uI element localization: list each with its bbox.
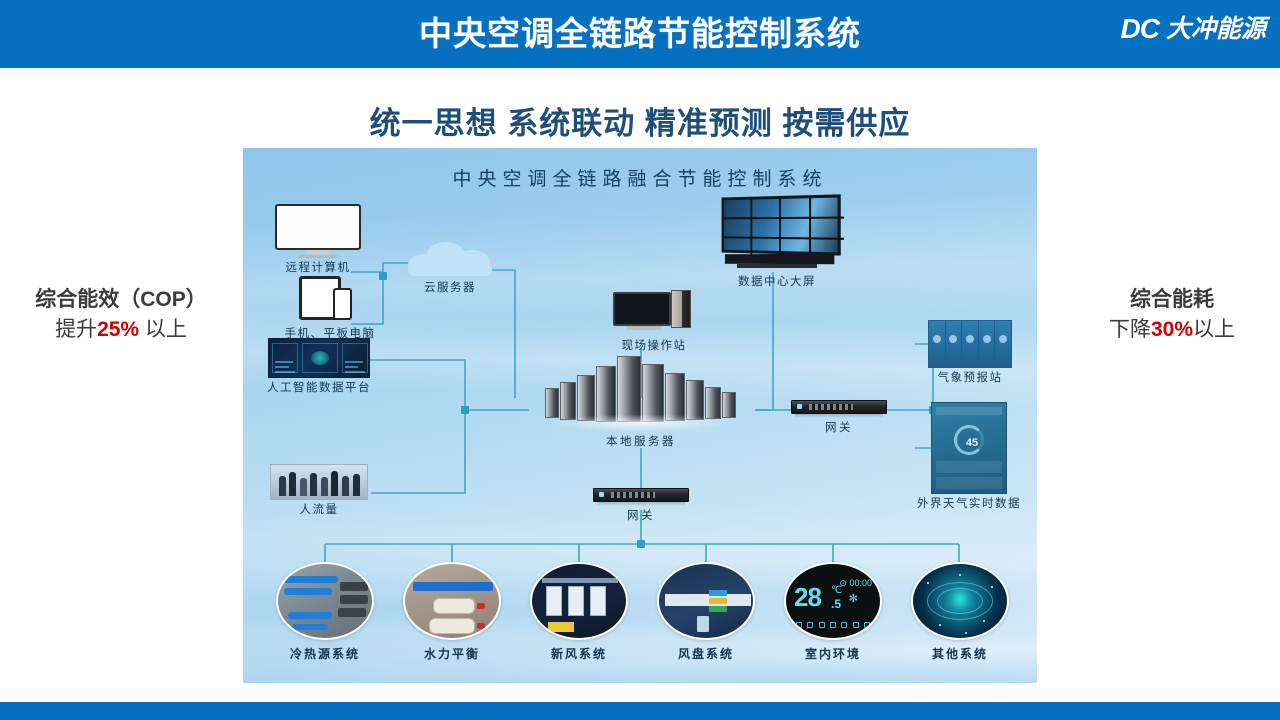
callout-energy-value: 下降30%以上 (1072, 316, 1272, 343)
weather-widget-icon: 45 (931, 402, 1007, 494)
fan-coil-system-icon (657, 562, 755, 640)
node-cloud-server-label: 云服务器 (395, 282, 505, 296)
brand-mark-icon: DC (1121, 15, 1159, 43)
cloud-icon (402, 236, 498, 278)
subsystem-chiller[interactable]: 冷热源系统 (267, 562, 383, 662)
brand-logo: DC 大冲能源 (1121, 15, 1266, 43)
node-weather-station[interactable]: 气象预报站 (915, 320, 1025, 386)
node-gateway-right-label: 网关 (791, 422, 887, 436)
callout-cop-prefix: 提升 (55, 318, 97, 341)
hydraulic-balance-icon (403, 562, 501, 640)
node-remote-computer-label: 远程计算机 (263, 262, 373, 276)
thermostat-clock: ⊙ 00:00 (839, 578, 872, 589)
subsystem-indoor-env-label: 室内环境 (775, 645, 891, 662)
footer-bar (0, 702, 1280, 720)
node-weather-live[interactable]: 45 外界天气实时数据 (907, 402, 1031, 512)
subsystem-chiller-label: 冷热源系统 (267, 645, 383, 662)
ai-dashboard-icon (268, 338, 370, 378)
node-local-server[interactable]: 本地服务器 (543, 340, 739, 450)
subsystem-row: 冷热源系统 水力平衡 新风系统 (257, 562, 1023, 678)
subsystem-fresh-air-label: 新风系统 (521, 645, 637, 662)
fresh-air-system-icon (530, 562, 628, 640)
subsystem-other-label: 其他系统 (902, 645, 1018, 662)
callout-energy-suffix: 以上 (1193, 318, 1235, 341)
node-people-flow-label: 人流量 (261, 504, 377, 518)
node-gateway-bottom-label: 网关 (593, 510, 689, 524)
page-title: 中央空调全链路节能控制系统 (0, 0, 1280, 68)
phone-tablet-icon (295, 276, 365, 324)
video-wall-icon (711, 194, 843, 272)
chiller-plant-icon (276, 562, 374, 640)
weather-gauge: 45 (954, 425, 984, 455)
thermostat-icon: ⊙ 00:00 28 ℃ .5 ✻ (784, 562, 882, 640)
node-ai-platform[interactable]: 人工智能数据平台 (253, 338, 385, 396)
thermostat-temperature: 28 (794, 584, 821, 610)
other-systems-icon (911, 562, 1009, 640)
subsystem-fan-coil-label: 风盘系统 (648, 645, 764, 662)
thermostat-buttons[interactable] (796, 621, 870, 629)
callout-energy: 综合能耗 下降30%以上 (1072, 287, 1272, 344)
brand-name: 大冲能源 (1166, 17, 1266, 42)
node-people-flow[interactable]: 人流量 (261, 464, 377, 518)
app-header: 中央空调全链路节能控制系统 DC 大冲能源 (0, 0, 1280, 68)
weather-gauge-value: 45 (957, 428, 987, 458)
crowd-photo-icon (270, 464, 368, 500)
node-gateway-bottom[interactable]: 网关 (593, 488, 689, 524)
subsystem-hydraulic[interactable]: 水力平衡 (394, 562, 510, 662)
node-weather-station-label: 气象预报站 (915, 372, 1025, 386)
callout-cop-value: 提升25% 以上 (8, 316, 234, 343)
subsystem-fan-coil[interactable]: 风盘系统 (648, 562, 764, 662)
callout-cop-suffix: 以上 (139, 318, 187, 341)
node-mobile-tablet[interactable]: 手机、平板电脑 (271, 276, 389, 342)
slogan-subtitle: 统一思想 系统联动 精准预测 按需供应 (0, 98, 1280, 143)
node-weather-live-label: 外界天气实时数据 (907, 498, 1031, 512)
system-architecture-diagram: 中央空调全链路融合节能控制系统 (243, 148, 1037, 683)
server-rack-icon (543, 340, 739, 432)
node-cloud-server[interactable]: 云服务器 (395, 236, 505, 296)
callout-cop-heading: 综合能效（COP） (8, 287, 234, 313)
callout-energy-heading: 综合能耗 (1072, 287, 1272, 313)
snowflake-icon: ✻ (849, 592, 858, 605)
node-local-server-label: 本地服务器 (543, 436, 739, 450)
subsystem-hydraulic-label: 水力平衡 (394, 645, 510, 662)
node-gateway-right[interactable]: 网关 (791, 400, 887, 436)
thermostat-unit: ℃ (831, 585, 842, 596)
callout-cop-accent: 25% (97, 318, 139, 341)
monitor-icon (275, 204, 361, 258)
workstation-icon (613, 288, 695, 336)
gateway-icon (593, 488, 689, 506)
node-remote-computer[interactable]: 远程计算机 (263, 204, 373, 276)
callout-energy-prefix: 下降 (1109, 318, 1151, 341)
node-video-wall[interactable]: 数据中心大屏 (709, 194, 845, 290)
gateway-icon (791, 400, 887, 418)
node-video-wall-label: 数据中心大屏 (709, 276, 845, 290)
subsystem-fresh-air[interactable]: 新风系统 (521, 562, 637, 662)
callout-energy-accent: 30% (1151, 318, 1193, 341)
subsystem-other[interactable]: 其他系统 (902, 562, 1018, 662)
node-ai-platform-label: 人工智能数据平台 (253, 382, 385, 396)
subsystem-indoor-env[interactable]: ⊙ 00:00 28 ℃ .5 ✻ 室内环境 (775, 562, 891, 662)
callout-cop: 综合能效（COP） 提升25% 以上 (8, 287, 234, 344)
thermostat-decimal: .5 (831, 597, 841, 611)
weather-forecast-icon (928, 320, 1012, 368)
